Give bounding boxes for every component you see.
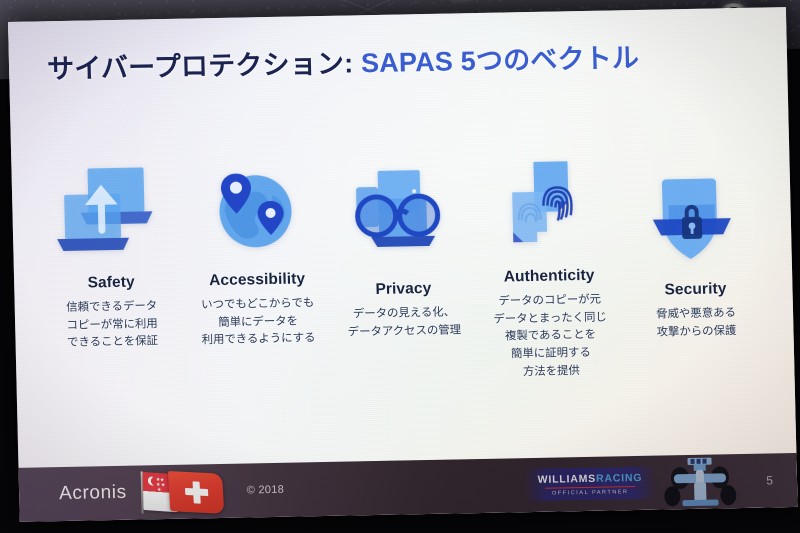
footer-spacer bbox=[284, 485, 524, 490]
pillar-privacy: Privacy データの見える化、 データアクセスの管理 bbox=[327, 159, 477, 342]
acronis-logo: Acronis bbox=[59, 482, 127, 505]
pillar-authenticity: Authenticity データのコピーが元 データとまったく同じ 複製であるこ… bbox=[473, 146, 624, 382]
slide-title-prefix: サイバープロテクション: bbox=[47, 48, 362, 84]
racing-word: RACING bbox=[596, 472, 642, 485]
pillar-description: いつでもどこからでも 簡単にデータを 利用できるようにする bbox=[201, 295, 316, 350]
williams-racing-logo: WILLIAMSRACING OFFICIAL PARTNER bbox=[523, 467, 656, 502]
williams-word: WILLIAMS bbox=[538, 473, 597, 486]
pillar-title: Privacy bbox=[375, 280, 431, 299]
pillar-description: 脅威や悪意ある 攻撃からの保護 bbox=[656, 305, 737, 342]
f1-car-image bbox=[664, 455, 737, 508]
pillar-safety: Safety 信頼できるデータ コピーが常に利用 できることを保証 bbox=[35, 153, 186, 354]
partner-flags: ★★★ ★ ★ bbox=[142, 468, 235, 516]
slide-title: サイバープロテクション: SAPAS 5つのベクトル bbox=[47, 36, 640, 86]
pillar-description: データの見える化、 データアクセスの管理 bbox=[347, 304, 461, 342]
pillar-description: 信頼できるデータ コピーが常に利用 できることを保証 bbox=[66, 298, 158, 353]
conference-room-photo: サイバープロテクション: SAPAS 5つのベクトル bbox=[0, 0, 800, 533]
devices-eyeglasses-icon bbox=[345, 159, 458, 273]
globe-map-pins-icon bbox=[199, 150, 312, 264]
pillar-description: データのコピーが元 データとまったく同じ 複製であることを 簡単に証明する 方法… bbox=[493, 292, 609, 383]
pillar-title: Accessibility bbox=[209, 270, 305, 290]
slide-title-accent: SAPAS 5つのベクトル bbox=[361, 43, 640, 78]
pillar-title: Security bbox=[664, 280, 726, 299]
copyright-text: © 2018 bbox=[247, 484, 285, 497]
pillar-title: Authenticity bbox=[504, 267, 595, 287]
presentation-slide: サイバープロテクション: SAPAS 5つのベクトル bbox=[8, 7, 798, 522]
pillar-title: Safety bbox=[87, 274, 135, 293]
pillar-security: Security 脅威や悪意ある 攻撃からの保護 bbox=[619, 159, 769, 342]
laptop-backup-arrow-icon bbox=[53, 153, 166, 267]
pillars-row: Safety 信頼できるデータ コピーが常に利用 できることを保証 bbox=[35, 137, 771, 390]
slide-page-number: 5 bbox=[766, 473, 773, 487]
projection-screen: サイバープロテクション: SAPAS 5つのベクトル bbox=[8, 7, 798, 522]
switzerland-flag-icon bbox=[168, 471, 224, 514]
official-partner-text: OFFICIAL PARTNER bbox=[538, 489, 643, 497]
slide-footer: Acronis ★★★ ★ ★ © 2018 bbox=[19, 453, 798, 522]
documents-fingerprint-icon bbox=[491, 147, 604, 261]
pillar-accessibility: Accessibility いつでもどこからでも 簡単にデータを 利用できるよう… bbox=[181, 150, 332, 351]
shield-padlock-icon bbox=[637, 160, 750, 274]
